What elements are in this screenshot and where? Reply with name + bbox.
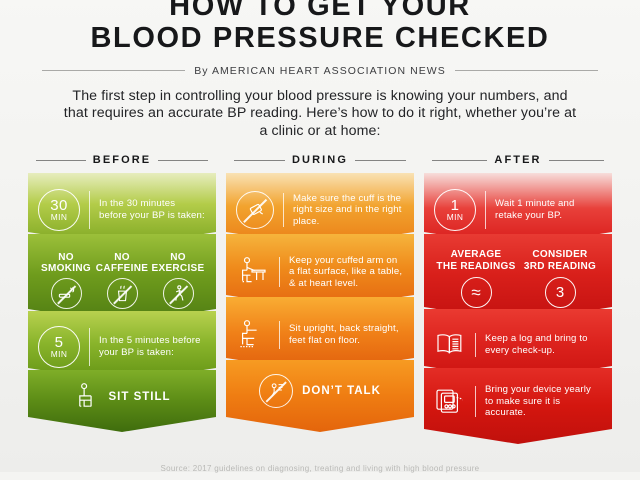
sit-still-row: SIT STILL (38, 382, 206, 412)
byline-rule-right (455, 70, 598, 71)
column-header-before: BEFORE (28, 147, 216, 173)
approximately-icon: ≈ (461, 277, 492, 308)
clock-1-min-icon: 1 MIN (434, 189, 476, 231)
band-after-device-check: Bring your device yearly to make sure it… (424, 368, 612, 444)
arm-on-table-icon (236, 256, 270, 288)
band-text: In the 30 minutes before your BP is take… (99, 198, 206, 221)
band-text: Bring your device yearly to make sure it… (485, 384, 602, 419)
sit-upright-icon (236, 319, 270, 351)
avoid-caption-caffeine: NO CAFFEINE (96, 252, 148, 274)
consider-caption: CONSIDER 3RD READING (524, 249, 596, 272)
header-rule-right (549, 160, 604, 161)
list-item: NO SMOKING (38, 252, 93, 309)
cap-line1: AVERAGE (451, 249, 502, 260)
average-caption: AVERAGE THE READINGS (436, 249, 515, 272)
band-text: Sit upright, back straight, feet flat on… (289, 323, 404, 346)
band-before-avoid: NO SMOKING NO (28, 234, 216, 324)
band-text: Keep your cuffed arm on a flat surface, … (289, 255, 404, 290)
source-footnote: Source: 2017 guidelines on diagnosing, t… (0, 464, 640, 473)
cap-line1: NO (170, 252, 186, 263)
byline-rule-left (42, 70, 185, 71)
header-rule-right (158, 160, 208, 161)
header-rule-left (432, 160, 487, 161)
band-divider (475, 386, 476, 417)
list-item: NO CAFFEINE (94, 252, 149, 309)
band-divider (279, 257, 280, 288)
cap-line2: EXERCISE (152, 263, 205, 274)
band-divider (475, 333, 476, 357)
list-item: CONSIDER 3RD READING 3 (518, 249, 602, 308)
band-text: Wait 1 minute and retake your BP. (495, 198, 602, 221)
clock-30-min-icon: 30 MIN (38, 189, 80, 231)
header-rule-right (355, 160, 406, 161)
cap-line2: THE READINGS (436, 261, 515, 272)
timer-unit: MIN (447, 213, 464, 222)
readings-list: AVERAGE THE READINGS ≈ CONSIDER 3RD READ… (434, 249, 602, 308)
no-caffeine-icon (107, 278, 138, 309)
list-item: AVERAGE THE READINGS ≈ (434, 249, 518, 308)
header-rule-left (234, 160, 285, 161)
band-text: Keep a log and bring to every check-up. (485, 333, 602, 356)
intro-paragraph: The first step in controlling your blood… (60, 88, 580, 141)
page-title-line1: HOW TO GET YOUR (0, 0, 640, 20)
sit-still-label: SIT STILL (108, 391, 170, 403)
infographic-page: HOW TO GET YOUR BLOOD PRESSURE CHECKED B… (0, 0, 640, 472)
avoid-list: NO SMOKING NO (38, 252, 206, 309)
timer-unit: MIN (51, 350, 68, 359)
timer-value: 1 (451, 199, 460, 213)
page-title-line2: BLOOD PRESSURE CHECKED (0, 24, 640, 52)
list-item: NO EXERCISE (150, 252, 205, 309)
column-label-before: BEFORE (93, 154, 151, 166)
avoid-caption-smoking: NO SMOKING (41, 252, 91, 274)
cap-line1: CONSIDER (532, 249, 587, 260)
avoid-caption-exercise: NO EXERCISE (152, 252, 205, 274)
symbol: 3 (556, 285, 564, 300)
cap-line2: 3RD READING (524, 261, 596, 272)
header: HOW TO GET YOUR BLOOD PRESSURE CHECKED B… (0, 0, 640, 140)
column-label-during: DURING (292, 154, 348, 166)
no-talking-icon (259, 374, 293, 408)
dont-talk-label: DON’T TALK (302, 385, 381, 397)
timer-unit: MIN (51, 213, 68, 222)
column-before: BEFORE 30 MIN In the 30 minutes before y… (28, 147, 216, 452)
column-header-during: DURING (226, 147, 414, 173)
symbol: ≈ (471, 284, 480, 301)
clock-5-min-icon: 5 MIN (38, 326, 80, 368)
band-divider (283, 193, 284, 227)
number-three-icon: 3 (545, 277, 576, 308)
dont-talk-row: DON’T TALK (236, 374, 404, 408)
bp-monitor-device-icon (434, 387, 466, 417)
column-header-after: AFTER (424, 147, 612, 173)
person-sitting-icon (73, 382, 99, 412)
byline: By AMERICAN HEART ASSOCIATION NEWS (194, 65, 446, 77)
band-during-dont-talk: DON’T TALK (226, 360, 414, 432)
column-during: DURING Make sure the cuff is the r (226, 147, 414, 452)
timer-value: 30 (50, 199, 68, 213)
band-divider (279, 321, 280, 349)
cap-line1: NO (114, 252, 130, 263)
band-before-sit-still: SIT STILL (28, 370, 216, 432)
no-exercise-icon (163, 278, 194, 309)
byline-row: By AMERICAN HEART ASSOCIATION NEWS (0, 65, 640, 77)
columns-container: BEFORE 30 MIN In the 30 minutes before y… (0, 147, 640, 452)
band-divider (485, 191, 486, 229)
band-divider (89, 328, 90, 366)
cap-line1: NO (58, 252, 74, 263)
logbook-icon (434, 331, 466, 359)
no-smoking-icon (51, 278, 82, 309)
column-label-after: AFTER (494, 154, 541, 166)
band-text: Make sure the cuff is the right size and… (293, 193, 404, 228)
header-rule-left (36, 160, 86, 161)
timer-value: 5 (55, 336, 64, 350)
column-after: AFTER 1 MIN Wait 1 minute and retake you… (424, 147, 612, 452)
no-wrong-cuff-icon (236, 191, 274, 229)
band-divider (89, 191, 90, 229)
band-text: In the 5 minutes before your BP is taken… (99, 335, 206, 358)
band-after-readings: AVERAGE THE READINGS ≈ CONSIDER 3RD READ… (424, 234, 612, 322)
cap-line2: SMOKING (41, 263, 91, 274)
cap-line2: CAFFEINE (96, 263, 148, 274)
